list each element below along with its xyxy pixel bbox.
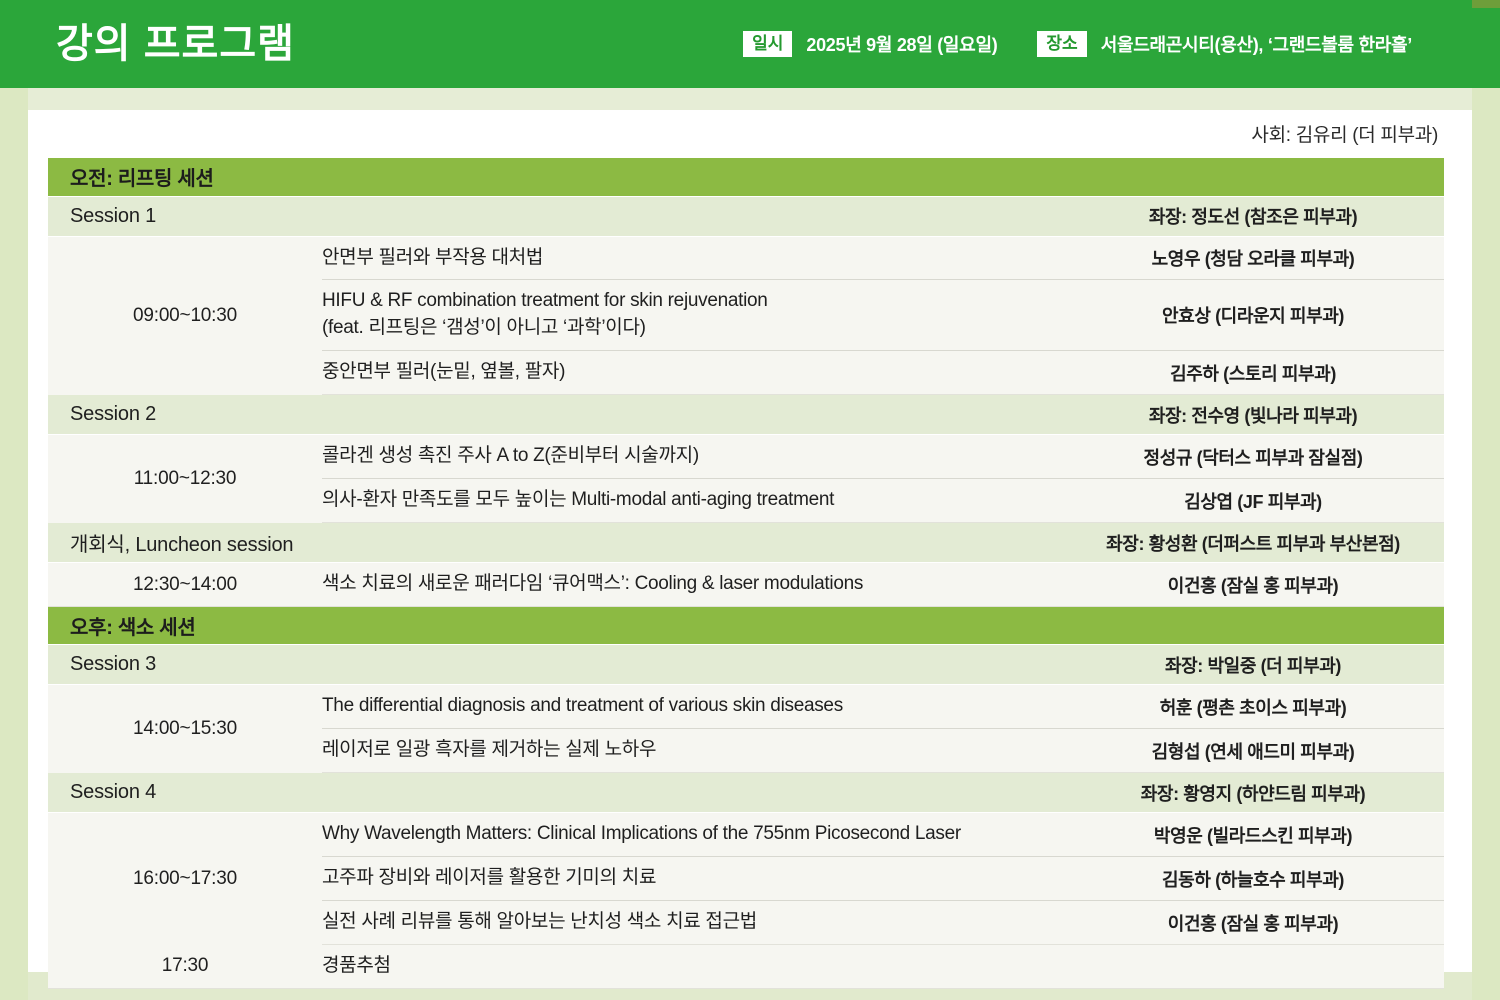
right-frame-strip: [1472, 88, 1500, 1000]
session-label: Session 2: [48, 395, 1062, 435]
lecture-title: 경품추첨: [322, 945, 1062, 989]
program-page: 강의 프로그램 일시 2025년 9월 28일 (일요일) 장소 서울드래곤시티…: [0, 0, 1500, 1000]
header-underband: [28, 88, 1472, 110]
session-label: Session 4: [48, 773, 1062, 813]
session-chair: 좌장: 황영지 (하얀드림 피부과): [1062, 773, 1444, 813]
time-cell: 17:30: [48, 945, 322, 989]
lecture-speaker: 박영운 (빌라드스킨 피부과): [1062, 813, 1444, 857]
session-label: Session 3: [48, 645, 1062, 685]
program-table: 오전: 리프팅 세션 Session 1 좌장: 정도선 (참조은 피부과) 0…: [48, 158, 1444, 989]
lecture-title: 실전 사례 리뷰를 통해 알아보는 난치성 색소 치료 접근법: [322, 901, 1062, 945]
session-header-1: Session 1 좌장: 정도선 (참조은 피부과): [48, 196, 1444, 236]
lecture-speaker: 이건홍 (잠실 홍 피부과): [1062, 901, 1444, 945]
section-header-morning: 오전: 리프팅 세션: [48, 158, 1444, 196]
table-row: 09:00~10:30 안면부 필러와 부작용 대처법 노영우 (청담 오라클 …: [48, 236, 1444, 280]
lecture-title-main: HIFU & RF combination treatment for skin…: [322, 290, 768, 311]
lecture-title: 고주파 장비와 레이저를 활용한 기미의 치료: [322, 857, 1062, 901]
time-cell: 12:30~14:00: [48, 563, 322, 607]
lecture-title: 레이저로 일광 흑자를 제거하는 실제 노하우: [322, 729, 1062, 773]
session-header-luncheon: 개회식, Luncheon session 좌장: 황성환 (더퍼스트 피부과 …: [48, 523, 1444, 563]
section-header-afternoon: 오후: 색소 세션: [48, 607, 1444, 645]
lecture-speaker: 노영우 (청담 오라클 피부과): [1062, 236, 1444, 280]
page-title: 강의 프로그램: [56, 24, 295, 64]
mc-line: 사회: 김유리 (더 피부과): [1251, 120, 1438, 147]
session-chair: 좌장: 박일중 (더 피부과): [1062, 645, 1444, 685]
session-label: 개회식, Luncheon session: [48, 523, 1062, 563]
lecture-speaker: 안효상 (디라운지 피부과): [1062, 280, 1444, 351]
table-row: 17:30 경품추첨: [48, 945, 1444, 989]
time-cell: 09:00~10:30: [48, 236, 322, 395]
session-label: Session 1: [48, 196, 1062, 236]
session-chair: 좌장: 전수영 (빛나라 피부과): [1062, 395, 1444, 435]
table-row: 12:30~14:00 색소 치료의 새로운 패러다임 ‘큐어맥스’: Cool…: [48, 563, 1444, 607]
date-value: 2025년 9월 28일 (일요일): [806, 31, 997, 57]
lecture-speaker: 이건홍 (잠실 홍 피부과): [1062, 563, 1444, 607]
lecture-title: 콜라겐 생성 촉진 주사 A to Z(준비부터 시술까지): [322, 435, 1062, 479]
session-chair: 좌장: 정도선 (참조은 피부과): [1062, 196, 1444, 236]
lecture-title: 의사-환자 만족도를 모두 높이는 Multi-modal anti-aging…: [322, 479, 1062, 523]
lecture-title: Why Wavelength Matters: Clinical Implica…: [322, 813, 1062, 857]
lecture-speaker: 김주하 (스토리 피부과): [1062, 351, 1444, 395]
venue-value: 서울드래곤시티(용산), ‘그랜드볼룸 한라홀’: [1101, 31, 1412, 57]
session-chair: 좌장: 황성환 (더퍼스트 피부과 부산본점): [1062, 523, 1444, 563]
lecture-speaker: 허훈 (평촌 초이스 피부과): [1062, 685, 1444, 729]
lecture-speaker: 김형섭 (연세 애드미 피부과): [1062, 729, 1444, 773]
session-header-2: Session 2 좌장: 전수영 (빛나라 피부과): [48, 395, 1444, 435]
section-title: 오전: 리프팅 세션: [48, 158, 1444, 196]
lecture-title-sub: (feat. 리프팅은 ‘갬성’이 아니고 ‘과학’이다): [322, 315, 1050, 342]
lecture-title: HIFU & RF combination treatment for skin…: [322, 280, 1062, 351]
page-header: 강의 프로그램 일시 2025년 9월 28일 (일요일) 장소 서울드래곤시티…: [0, 0, 1500, 88]
lecture-title: 색소 치료의 새로운 패러다임 ‘큐어맥스’: Cooling & laser …: [322, 563, 1062, 607]
date-label-badge: 일시: [743, 31, 792, 58]
table-row: 14:00~15:30 The differential diagnosis a…: [48, 685, 1444, 729]
lecture-speaker: [1062, 945, 1444, 989]
time-cell: 16:00~17:30: [48, 813, 322, 945]
table-row: 11:00~12:30 콜라겐 생성 촉진 주사 A to Z(준비부터 시술까…: [48, 435, 1444, 479]
corner-notch: [1472, 0, 1500, 8]
venue-label-badge: 장소: [1037, 31, 1086, 58]
session-header-3: Session 3 좌장: 박일중 (더 피부과): [48, 645, 1444, 685]
session-header-4: Session 4 좌장: 황영지 (하얀드림 피부과): [48, 773, 1444, 813]
section-title: 오후: 색소 세션: [48, 607, 1444, 645]
left-frame-strip: [0, 88, 28, 1000]
lecture-speaker: 정성규 (닥터스 피부과 잠실점): [1062, 435, 1444, 479]
lecture-title: 안면부 필러와 부작용 대처법: [322, 236, 1062, 280]
lecture-title: 중안면부 필러(눈밑, 옆볼, 팔자): [322, 351, 1062, 395]
table-row: 16:00~17:30 Why Wavelength Matters: Clin…: [48, 813, 1444, 857]
time-cell: 14:00~15:30: [48, 685, 322, 773]
lecture-speaker: 김상엽 (JF 피부과): [1062, 479, 1444, 523]
lecture-title: The differential diagnosis and treatment…: [322, 685, 1062, 729]
lecture-speaker: 김동하 (하늘호수 피부과): [1062, 857, 1444, 901]
header-meta: 일시 2025년 9월 28일 (일요일) 장소 서울드래곤시티(용산), ‘그…: [743, 31, 1412, 58]
time-cell: 11:00~12:30: [48, 435, 322, 523]
